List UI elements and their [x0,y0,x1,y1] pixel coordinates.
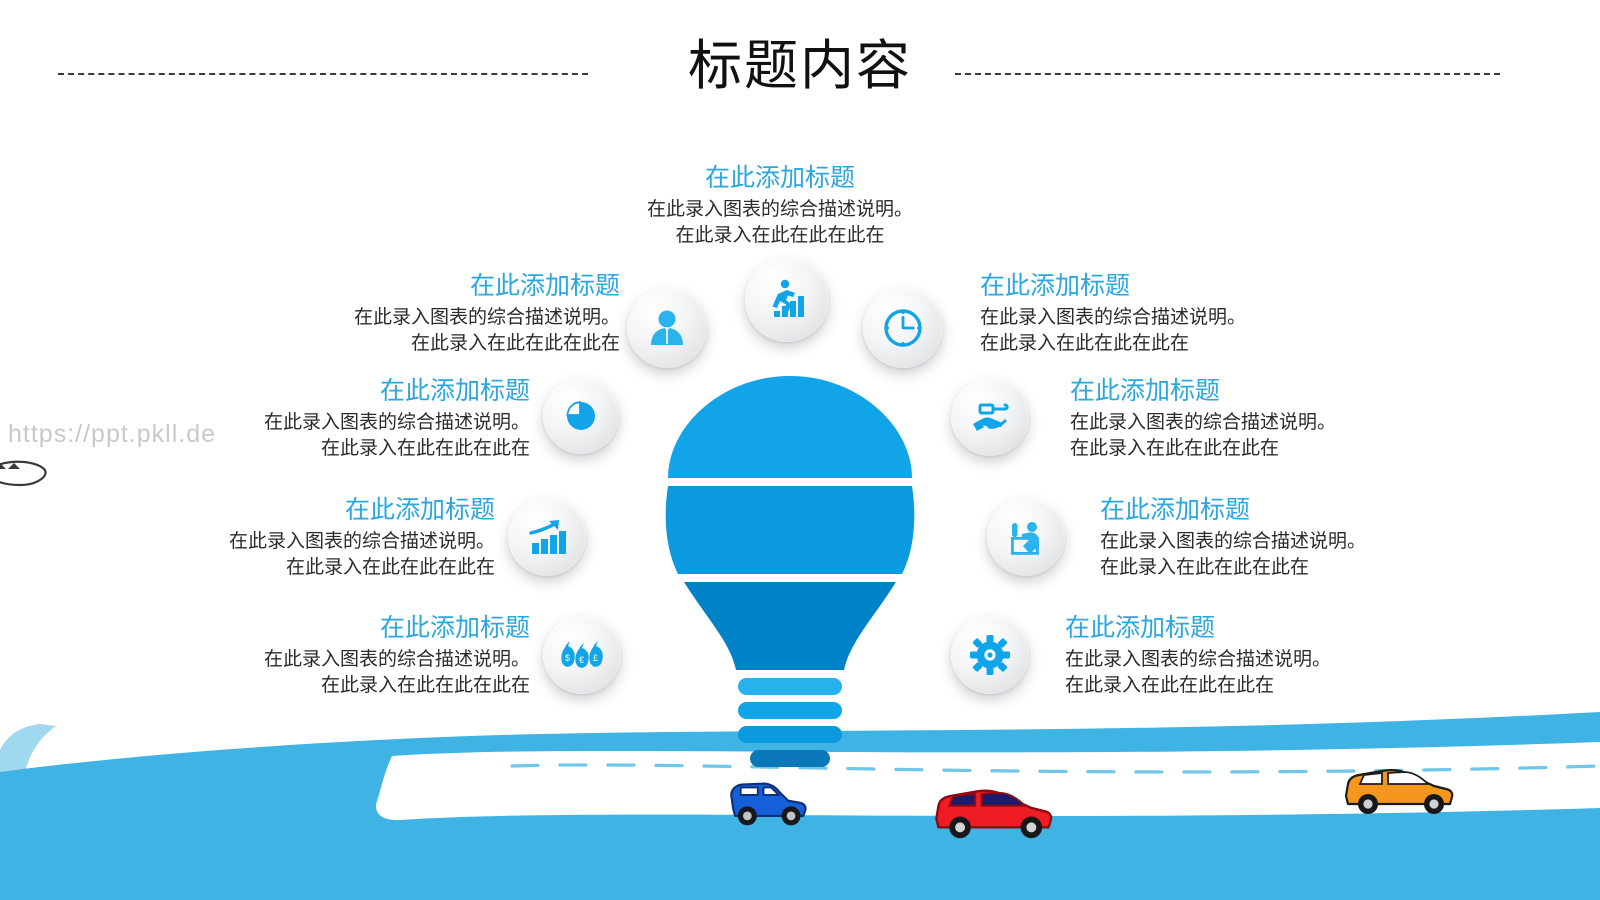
text-line: 在此录入图表的综合描述说明。 [110,647,530,673]
text-block-left-4: 在此添加标题 在此录入图表的综合描述说明。 在此录入在此在此在此在 [110,613,530,699]
text-block-left-1: 在此添加标题 在此录入图表的综合描述说明。 在此录入在此在此在此在 [200,271,620,357]
icon-gear[interactable] [951,616,1029,694]
base-band-2 [738,702,842,719]
text-line: 在此录入在此在此在此在 [75,555,495,581]
text-block-left-3-heading: 在此添加标题 [75,495,495,526]
text-line: 在此录入图表的综合描述说明。 [560,197,1000,223]
text-block-left-1-body: 在此录入图表的综合描述说明。 在此录入在此在此在此在 [200,305,620,357]
text-block-left-2-body: 在此录入图表的综合描述说明。 在此录入在此在此在此在 [110,410,530,462]
text-block-right-4: 在此添加标题 在此录入图表的综合描述说明。 在此录入在此在此在此在 [1065,613,1495,699]
text-block-left-1-heading: 在此添加标题 [200,271,620,302]
text-block-right-1: 在此添加标题 在此录入图表的综合描述说明。 在此录入在此在此在此在 [980,271,1410,357]
gear-icon [969,634,1011,676]
text-block-left-4-body: 在此录入图表的综合描述说明。 在此录入在此在此在此在 [110,647,530,699]
bulb-lower [684,582,896,670]
text-block-right-2-heading: 在此添加标题 [1070,376,1500,407]
text-block-right-1-body: 在此录入图表的综合描述说明。 在此录入在此在此在此在 [980,305,1410,357]
text-block-right-3-heading: 在此添加标题 [1100,495,1530,526]
base-band-1 [738,678,842,695]
text-line: 在此录入图表的综合描述说明。 [75,529,495,555]
text-line: 在此录入在此在此在此在 [1100,555,1530,581]
text-line: 在此录入图表的综合描述说明。 [200,305,620,331]
bar-chart-growth-icon [526,516,568,558]
text-block-right-1-heading: 在此添加标题 [980,271,1410,302]
icon-pie-chart[interactable] [543,378,619,454]
text-line: 在此录入在此在此在此在 [1070,436,1500,462]
svg-text:€: € [579,655,584,665]
icon-money-bags[interactable]: $ € £ [543,616,621,694]
watermark-doodle-icon [0,455,58,495]
svg-text:£: £ [593,653,598,663]
text-line: 在此录入图表的综合描述说明。 [1065,647,1495,673]
lightbulb-graphic [650,370,930,770]
text-line: 在此录入在此在此在此在 [110,673,530,699]
text-line: 在此录入在此在此在此在 [110,436,530,462]
text-block-right-4-heading: 在此添加标题 [1065,613,1495,644]
text-block-right-3-body: 在此录入图表的综合描述说明。 在此录入在此在此在此在 [1100,529,1530,581]
text-block-top-body: 在此录入图表的综合描述说明。 在此录入在此在此在此在 [560,197,1000,249]
person-at-desk-icon [1005,516,1047,558]
icon-user[interactable] [627,288,707,368]
text-block-left-2-heading: 在此添加标题 [110,376,530,407]
icon-hand-holding-key[interactable] [951,378,1029,456]
text-line: 在此录入图表的综合描述说明。 [110,410,530,436]
clock-icon [881,306,925,350]
money-bags-icon: $ € £ [560,637,604,673]
text-line: 在此录入在此在此在此在 [200,331,620,357]
icon-running-chart[interactable] [745,258,829,342]
page-title: 标题内容 [0,34,1600,98]
svg-text:$: $ [565,653,570,663]
slide-canvas: 标题内容 https://ppt.pkll.de [0,0,1600,900]
pie-chart-icon [561,396,601,436]
base-band-3 [738,726,842,743]
user-icon [646,307,688,349]
text-block-left-3: 在此添加标题 在此录入图表的综合描述说明。 在此录入在此在此在此在 [75,495,495,581]
icon-bar-chart-growth[interactable] [508,498,586,576]
text-line: 在此录入图表的综合描述说明。 [980,305,1410,331]
text-block-right-3: 在此添加标题 在此录入图表的综合描述说明。 在此录入在此在此在此在 [1100,495,1530,581]
person-running-chart-icon [765,278,809,322]
text-line: 在此录入在此在此在此在 [560,223,1000,249]
text-line: 在此录入图表的综合描述说明。 [1070,410,1500,436]
text-block-top-heading: 在此添加标题 [560,163,1000,194]
bulb-top [668,376,912,478]
text-line: 在此录入在此在此在此在 [1065,673,1495,699]
text-line: 在此录入在此在此在此在 [980,331,1410,357]
text-line: 在此录入图表的综合描述说明。 [1100,529,1530,555]
text-block-right-4-body: 在此录入图表的综合描述说明。 在此录入在此在此在此在 [1065,647,1495,699]
base-band-4 [750,750,830,767]
text-block-left-2: 在此添加标题 在此录入图表的综合描述说明。 在此录入在此在此在此在 [110,376,530,462]
text-block-left-4-heading: 在此添加标题 [110,613,530,644]
bulb-middle [666,486,915,574]
text-block-top: 在此添加标题 在此录入图表的综合描述说明。 在此录入在此在此在此在 [560,163,1000,249]
icon-person-at-desk[interactable] [987,498,1065,576]
hand-holding-key-icon [969,396,1011,438]
text-block-right-2: 在此添加标题 在此录入图表的综合描述说明。 在此录入在此在此在此在 [1070,376,1500,462]
text-block-left-3-body: 在此录入图表的综合描述说明。 在此录入在此在此在此在 [75,529,495,581]
icon-clock[interactable] [863,288,943,368]
text-block-right-2-body: 在此录入图表的综合描述说明。 在此录入在此在此在此在 [1070,410,1500,462]
